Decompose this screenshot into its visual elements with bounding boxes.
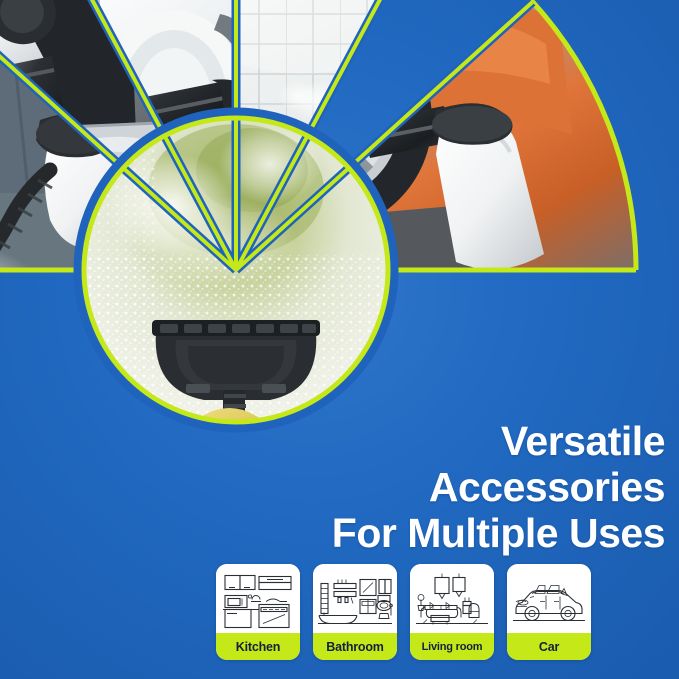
headline-line-2: Accessories <box>305 464 665 510</box>
kitchen-line-art-icon <box>216 564 300 633</box>
headline-line-1: Versatile <box>305 418 665 464</box>
use-card-car[interactable]: Car <box>507 564 591 660</box>
product-feature-banner: Versatile Accessories For Multiple Uses <box>0 0 679 679</box>
headline-line-3: For Multiple Uses <box>305 510 665 556</box>
use-case-cards: Kitchen <box>216 564 666 662</box>
use-card-label-car: Car <box>507 633 591 660</box>
use-card-bathroom[interactable]: Bathroom <box>313 564 397 660</box>
use-card-label-bathroom: Bathroom <box>313 633 397 660</box>
bathroom-line-art-icon <box>313 564 397 633</box>
use-card-label-living-room: Living room <box>410 633 494 660</box>
use-card-living-room[interactable]: Living room <box>410 564 494 660</box>
use-card-label-kitchen: Kitchen <box>216 633 300 660</box>
use-card-kitchen[interactable]: Kitchen <box>216 564 300 660</box>
living-room-line-art-icon <box>410 564 494 633</box>
page-title: Versatile Accessories For Multiple Uses <box>305 418 665 556</box>
car-line-art-icon <box>507 564 591 633</box>
